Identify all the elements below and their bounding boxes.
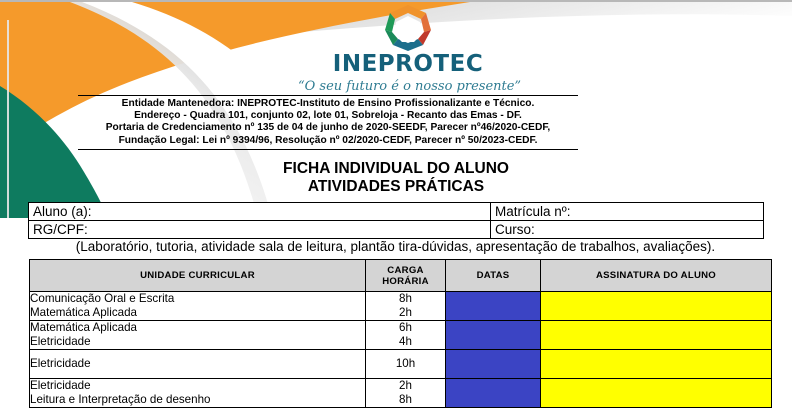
carga-line: 6h (366, 321, 445, 335)
header-carga-line2: HORÁRIA (382, 276, 429, 287)
hexagon-ring-logo-icon (381, 4, 435, 52)
table-row: Matemática Aplicada Eletricidade 6h 4h (30, 321, 772, 350)
rgcpf-field[interactable]: RG/CPF: (29, 221, 491, 239)
institution-line-4: Fundação Legal: Lei nº 9394/96, Resoluçã… (78, 135, 578, 147)
activities-table: UNIDADE CURRICULAR CARGA HORÁRIA DATAS A… (29, 259, 772, 408)
cell-assinatura[interactable] (541, 321, 772, 350)
activities-note: (Laboratório, tutoria, atividade sala de… (28, 238, 763, 255)
header-unidade-curricular: UNIDADE CURRICULAR (30, 260, 366, 292)
header-assinatura-do-aluno: ASSINATURA DO ALUNO (541, 260, 772, 292)
institution-line-2: Endereço - Quadra 101, conjunto 02, lote… (78, 110, 578, 122)
carga-line: 10h (366, 350, 445, 378)
carga-line: 2h (366, 306, 445, 320)
carga-line: 8h (366, 393, 445, 407)
logo-wordmark: INEPROTEC (298, 53, 518, 76)
curso-field[interactable]: Curso: (491, 221, 764, 239)
cell-unidade-curricular: Comunicação Oral e Escrita Matemática Ap… (30, 292, 366, 321)
cell-assinatura[interactable] (541, 292, 772, 321)
logo-tagline: “O seu futuro é o nosso presente” (298, 80, 518, 93)
cell-carga-horaria: 6h 4h (366, 321, 446, 350)
cell-datas[interactable] (446, 350, 541, 379)
unidade-line: Eletricidade (30, 350, 365, 378)
student-form-fields: Aluno (a): Matrícula nº: RG/CPF: Curso: (28, 202, 764, 239)
aluno-label: Aluno (a): (33, 204, 92, 219)
unidade-line: Leitura e Interpretação de desenho (30, 393, 365, 407)
cell-unidade-curricular: Eletricidade Leitura e Interpretação de … (30, 379, 366, 408)
carga-line: 4h (366, 335, 445, 349)
cell-datas[interactable] (446, 321, 541, 350)
table-row: Eletricidade Leitura e Interpretação de … (30, 379, 772, 408)
institution-info-block: Entidade Mantenedora: INEPROTEC-Institut… (78, 95, 578, 150)
cell-carga-horaria: 8h 2h (366, 292, 446, 321)
cell-carga-horaria: 10h (366, 350, 446, 379)
table-row: Comunicação Oral e Escrita Matemática Ap… (30, 292, 772, 321)
unidade-line: Matemática Aplicada (30, 321, 365, 335)
matricula-field[interactable]: Matrícula nº: (491, 203, 764, 221)
cell-datas[interactable] (446, 379, 541, 408)
document-title-line-1: FICHA INDIVIDUAL DO ALUNO (0, 160, 792, 178)
unidade-line: Matemática Aplicada (30, 306, 365, 320)
ineprotec-logo: INEPROTEC “O seu futuro é o nosso presen… (298, 4, 518, 88)
header-carga-horaria: CARGA HORÁRIA (366, 260, 446, 292)
document-page: INEPROTEC “O seu futuro é o nosso presen… (0, 0, 792, 414)
cell-carga-horaria: 2h 8h (366, 379, 446, 408)
matricula-label: Matrícula nº: (495, 204, 570, 219)
institution-line-3: Portaria de Credenciamento nº 135 de 04 … (78, 122, 578, 134)
cell-datas[interactable] (446, 292, 541, 321)
unidade-line: Eletricidade (30, 335, 365, 349)
unidade-line: Comunicação Oral e Escrita (30, 292, 365, 306)
aluno-field[interactable]: Aluno (a): (29, 203, 491, 221)
document-title-line-2: ATIVIDADES PRÁTICAS (0, 178, 792, 196)
cell-unidade-curricular: Matemática Aplicada Eletricidade (30, 321, 366, 350)
cell-unidade-curricular: Eletricidade (30, 350, 366, 379)
table-row: Eletricidade 10h (30, 350, 772, 379)
header-carga-line1: CARGA (387, 265, 423, 276)
header-datas: DATAS (446, 260, 541, 292)
rgcpf-label: RG/CPF: (33, 222, 88, 237)
cell-assinatura[interactable] (541, 379, 772, 408)
table-header-row: UNIDADE CURRICULAR CARGA HORÁRIA DATAS A… (30, 260, 772, 292)
curso-label: Curso: (495, 222, 535, 237)
form-row-rgcpf: RG/CPF: Curso: (29, 221, 764, 239)
cell-assinatura[interactable] (541, 350, 772, 379)
form-row-aluno: Aluno (a): Matrícula nº: (29, 203, 764, 221)
carga-line: 2h (366, 379, 445, 393)
carga-line: 8h (366, 292, 445, 306)
institution-line-1: Entidade Mantenedora: INEPROTEC-Institut… (78, 98, 578, 110)
unidade-line: Eletricidade (30, 379, 365, 393)
